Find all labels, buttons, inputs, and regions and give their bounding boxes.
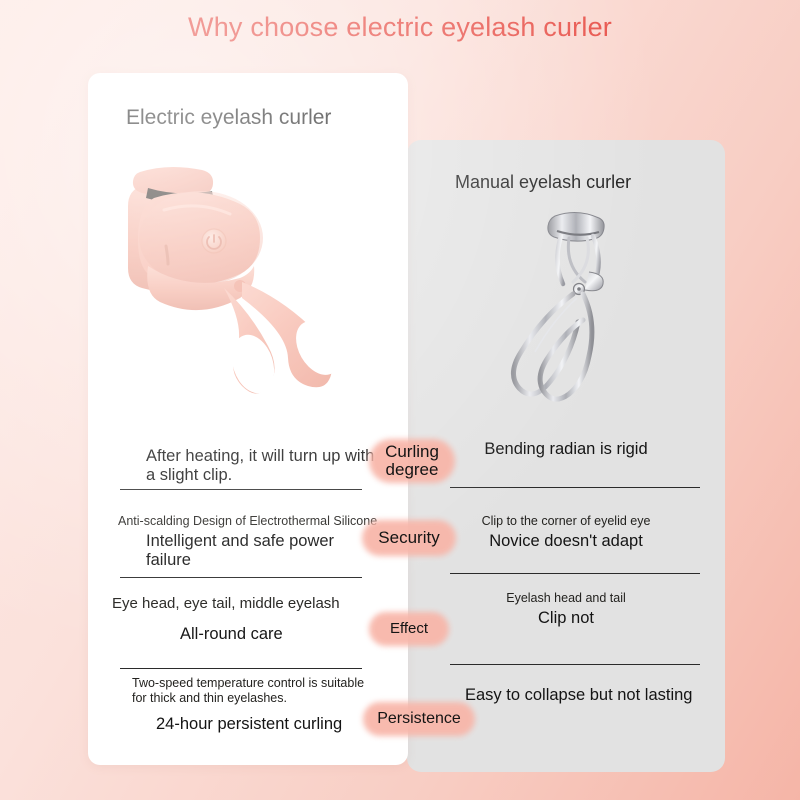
list-item: Eyelash head and tail Clip not: [407, 585, 725, 662]
row-main: Bending radian is rigid: [429, 440, 703, 459]
comparison-label-persistence: Persistence: [364, 702, 474, 736]
electric-card-heading: Electric eyelash curler: [126, 106, 331, 130]
row-sub: Two-speed temperature control is suitabl…: [132, 676, 380, 706]
row-main: Novice doesn't adapt: [429, 532, 703, 551]
comparison-label-effect: Effect: [372, 613, 446, 645]
comparison-label-security: Security: [362, 521, 456, 555]
row-main: Intelligent and safe power failure: [146, 532, 380, 570]
manual-eyelash-curler-icon: [477, 202, 657, 407]
comparison-label-curling-degree: Curling degree: [368, 437, 456, 485]
electric-rows-list: After heating, it will turn up with a sl…: [88, 431, 408, 739]
row-main: All-round care: [180, 625, 380, 644]
row-main: Clip not: [429, 609, 703, 628]
infographic-canvas: Why choose electric eyelash curler Manua…: [0, 0, 800, 800]
list-item: Two-speed temperature control is suitabl…: [88, 662, 408, 739]
divider: [450, 573, 700, 574]
list-item: Anti-scalding Design of Electrothermal S…: [88, 508, 408, 585]
row-sub: Eye head, eye tail, middle eyelash: [112, 595, 380, 613]
row-sub: Clip to the corner of eyelid eye: [429, 514, 703, 529]
electric-eyelash-curler-icon: [106, 158, 386, 423]
divider: [450, 487, 700, 488]
electric-curler-card: Electric eyelash curler: [88, 73, 408, 765]
row-main: Easy to collapse but not lasting: [465, 686, 703, 705]
row-main: 24-hour persistent curling: [156, 715, 380, 734]
divider: [450, 664, 700, 665]
row-main: After heating, it will turn up with a sl…: [146, 447, 380, 485]
divider: [120, 489, 362, 490]
page-title: Why choose electric eyelash curler: [0, 12, 800, 43]
row-sub: Anti-scalding Design of Electrothermal S…: [118, 514, 380, 529]
list-item: After heating, it will turn up with a sl…: [88, 431, 408, 508]
row-sub: Eyelash head and tail: [429, 591, 703, 606]
list-item: Eye head, eye tail, middle eyelash All-r…: [88, 585, 408, 662]
divider: [120, 577, 362, 578]
divider: [120, 668, 362, 669]
manual-card-heading: Manual eyelash curler: [455, 172, 631, 193]
